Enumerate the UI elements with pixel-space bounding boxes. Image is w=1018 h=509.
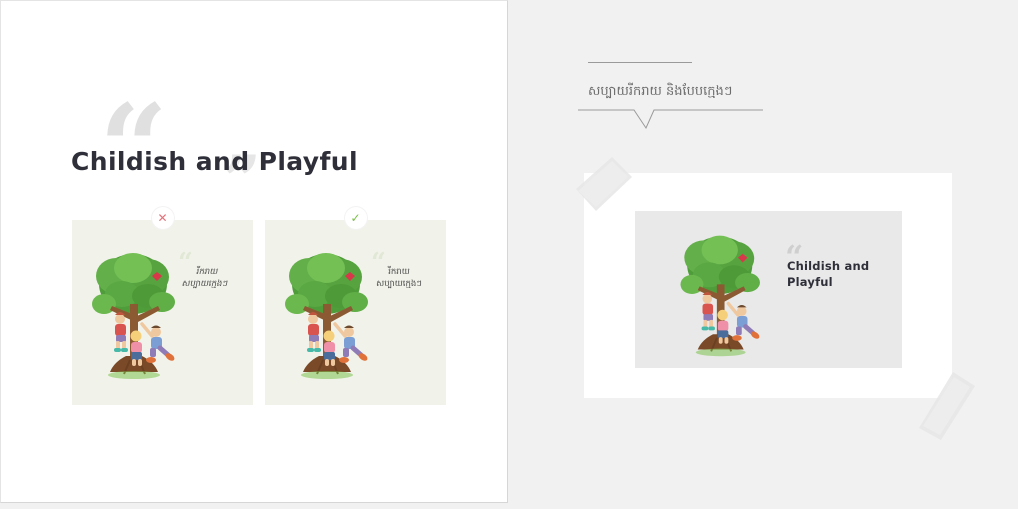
tree-illustration [86, 244, 191, 384]
screenshot-root: “ ” Childish and Playful ✕ [0, 0, 1018, 509]
example-cards: ✕ [72, 220, 446, 405]
tree-illustration [279, 244, 384, 384]
preview-frame[interactable]: “ Childish and Playful [584, 173, 952, 398]
slide-title: Childish and Playful [787, 259, 887, 290]
card-caption-bad-line2: សប្បាយក្មេងៗ [166, 278, 244, 290]
card-caption-good-line2: សប្បាយក្មេងៗ [361, 278, 437, 290]
cross-icon: ✕ [152, 207, 174, 229]
tree-illustration [665, 227, 785, 361]
headline-block: “ ” Childish and Playful [71, 105, 451, 215]
callout-pointer-icon [578, 104, 763, 134]
tape-icon-bottom-right [909, 366, 979, 442]
example-card-good[interactable]: ✓ [265, 220, 446, 405]
document-page: “ ” Childish and Playful ✕ [0, 0, 508, 503]
annotation-text: សប្បាយរីករាយ និងបែបក្មេងៗ [588, 83, 732, 102]
preview-panel: សប្បាយរីករាយ និងបែបក្មេងៗ [509, 0, 1018, 509]
slide-title-line2: Playful [787, 275, 887, 291]
slide-canvas[interactable]: “ Childish and Playful [635, 211, 902, 368]
card-caption-bad-line1: រីករាយ [168, 266, 246, 278]
example-card-bad[interactable]: ✕ [72, 220, 253, 405]
slide-title-line1: Childish and [787, 259, 887, 275]
callout-top-rule [588, 62, 692, 63]
check-icon: ✓ [345, 207, 367, 229]
card-caption-good: រីករាយ សប្បាយក្មេងៗ [361, 266, 437, 291]
page-title: Childish and Playful [71, 147, 358, 176]
card-caption-bad: រីករាយ សប្បាយក្មេងៗ [166, 266, 247, 291]
card-caption-good-line1: រីករាយ [361, 266, 437, 278]
